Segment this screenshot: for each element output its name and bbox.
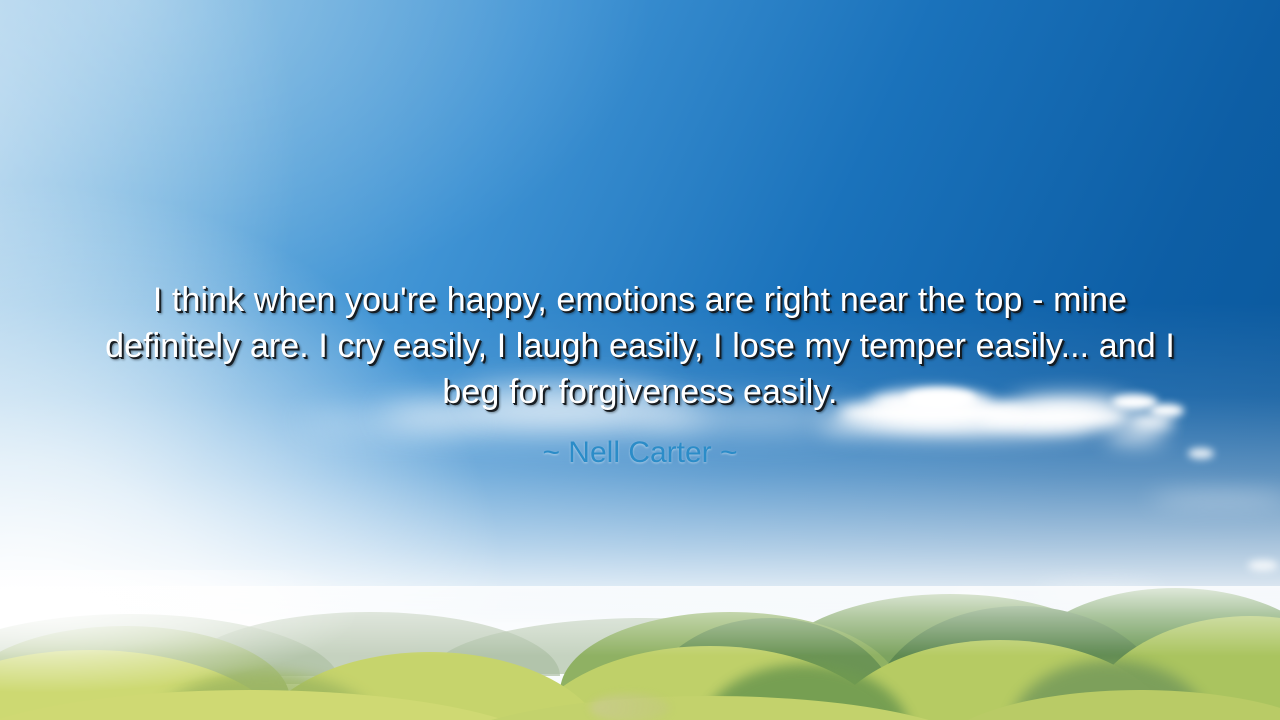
quote-block: I think when you're happy, emotions are …	[85, 277, 1195, 471]
dirt-path	[590, 694, 670, 720]
quote-attribution: ~ Nell Carter ~	[85, 415, 1195, 471]
quote-text: I think when you're happy, emotions are …	[85, 277, 1195, 415]
quote-image-canvas: I think when you're happy, emotions are …	[0, 0, 1280, 720]
